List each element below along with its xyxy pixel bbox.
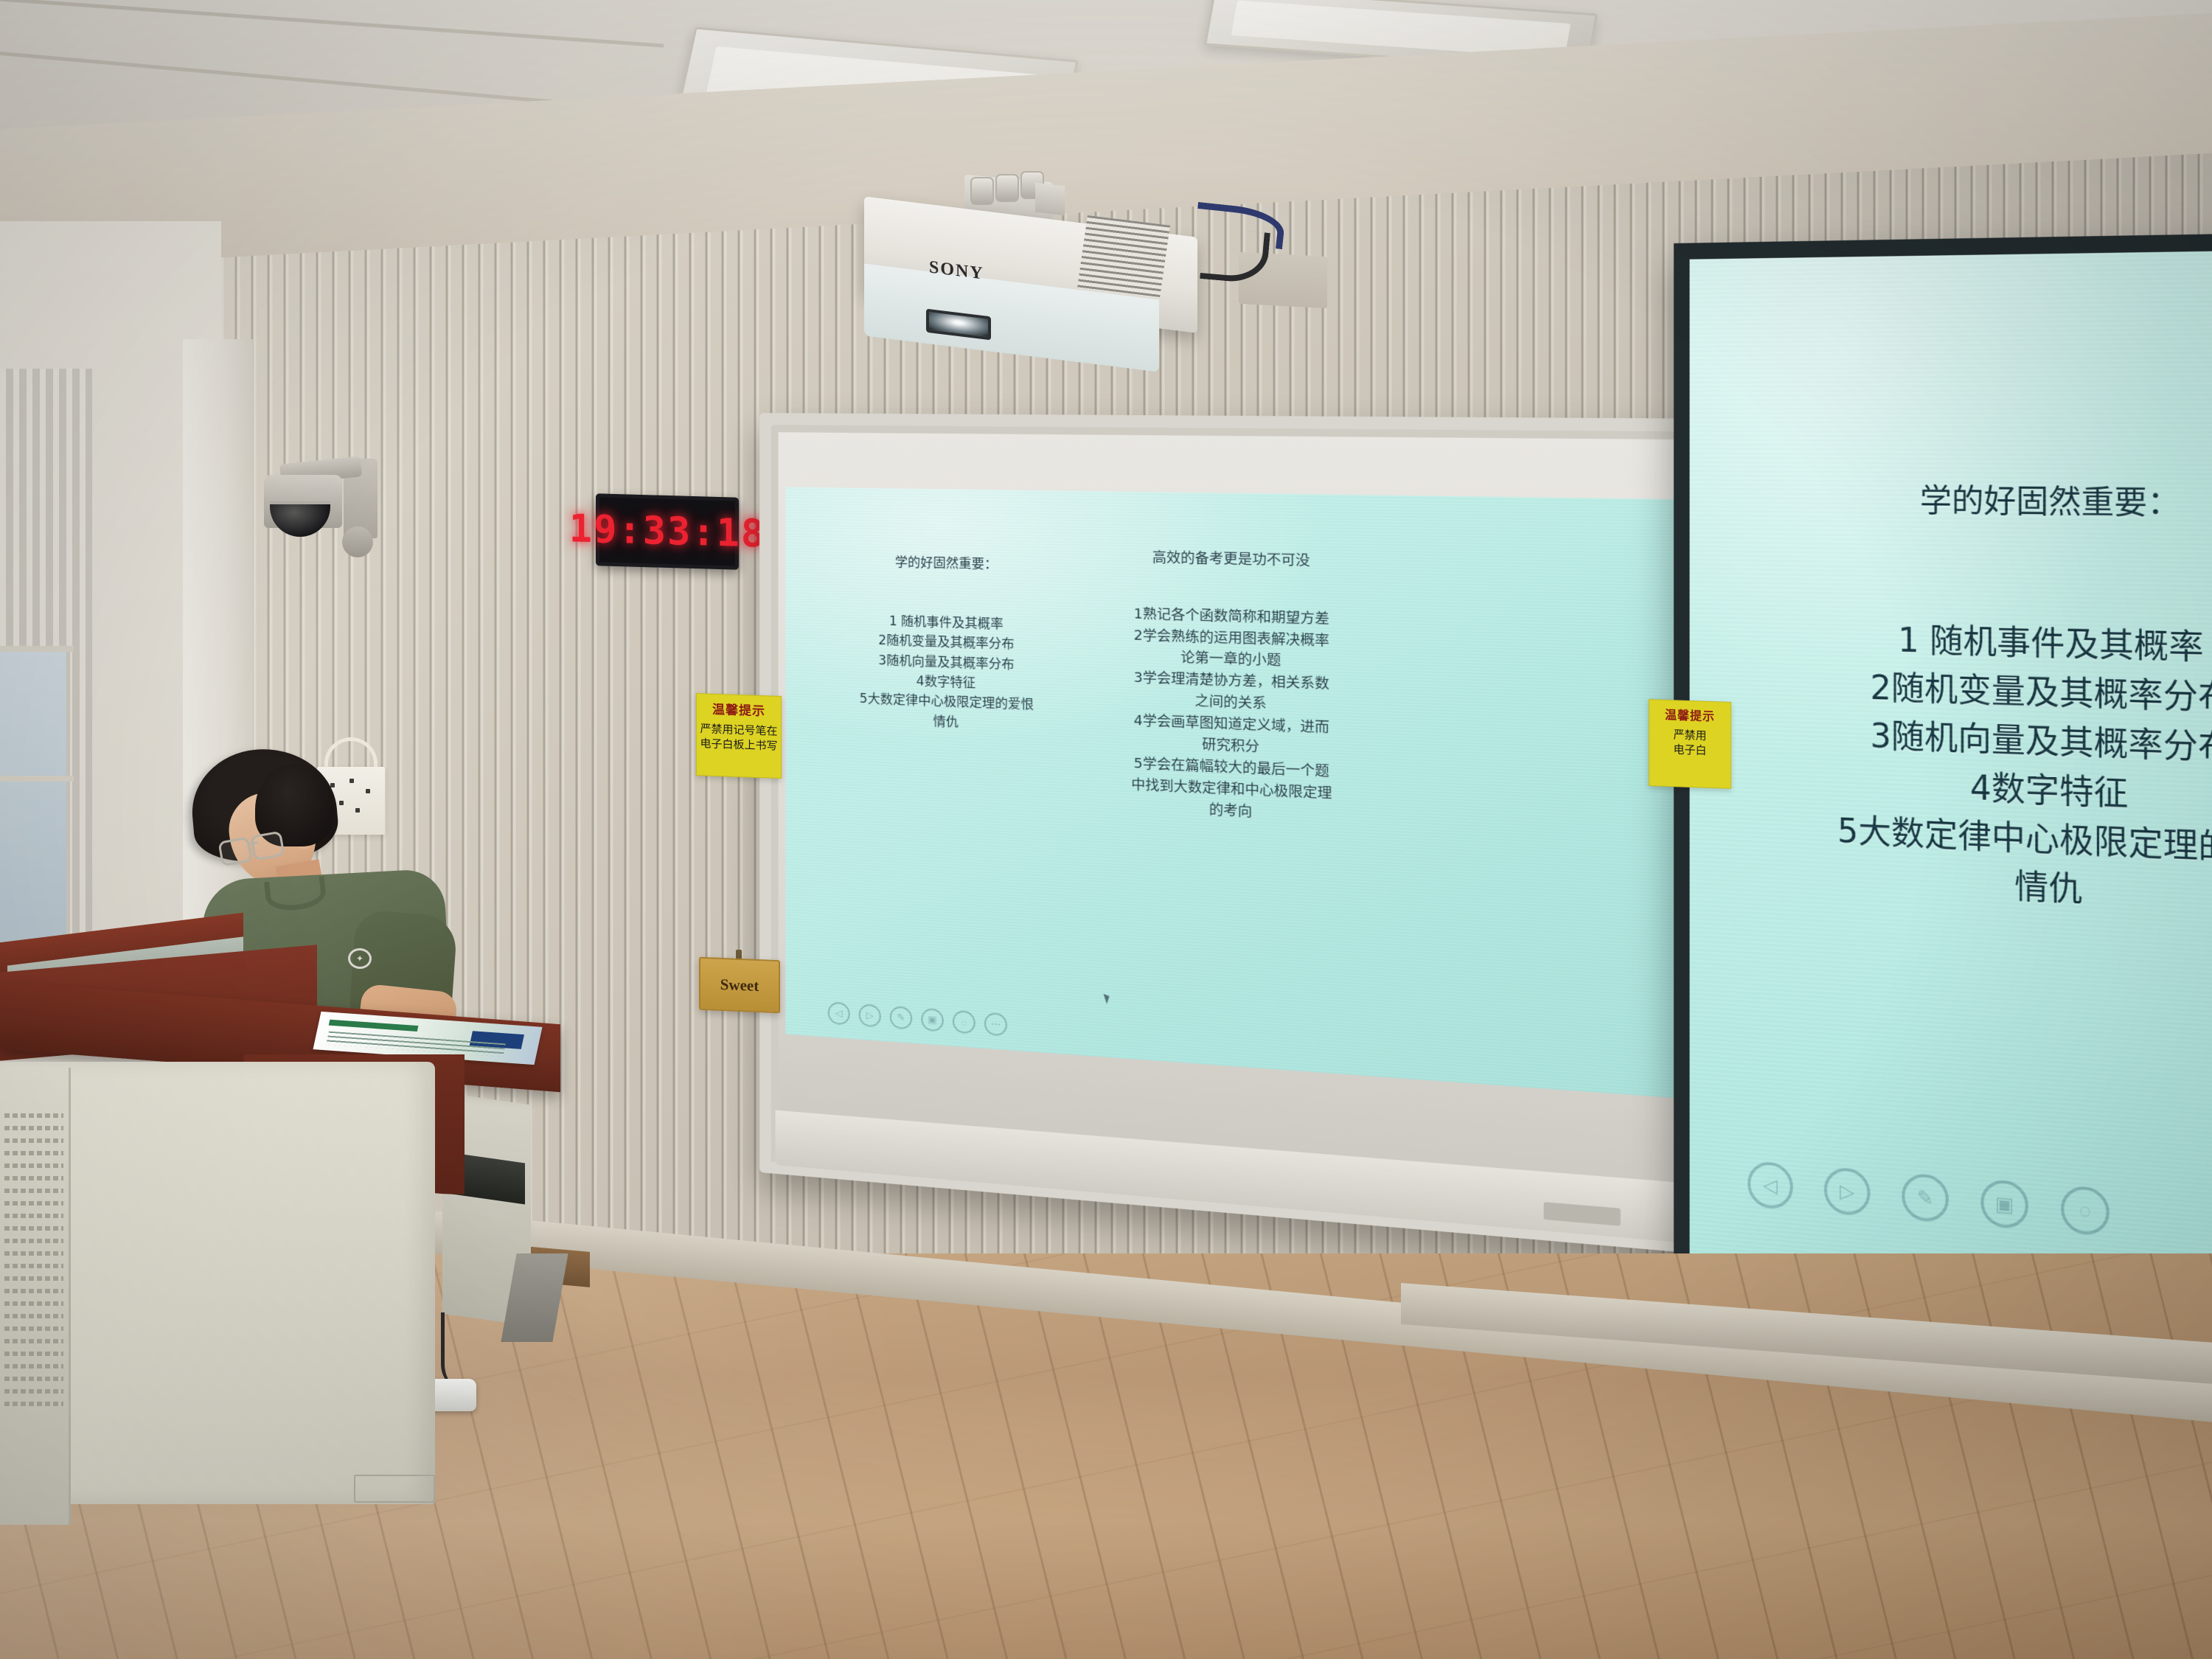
camera-mount-base [342,526,373,557]
window-frame [0,646,74,652]
projection-slide-text: 学的好固然重要： 1 随机事件及其概率 2随机变量及其概率分布 3随机向量及其概… [1719,429,2212,931]
podium-nameplate [354,1475,435,1503]
projection-slide-title: 学的好固然重要： [1719,476,2212,529]
play-icon[interactable]: ▷ [1824,1166,1871,1217]
projection-toolbar[interactable]: ◁ ▷ ✎ ▣ ◌ [1747,1161,2110,1237]
warning-sign-title: 温馨提示 [712,699,765,720]
shapes-icon[interactable]: ▣ [1980,1178,2028,1229]
play-icon[interactable]: ▷ [859,1004,881,1027]
search-icon[interactable]: ◌ [953,1010,975,1034]
whiteboard-toolbar[interactable]: ◁ ▷ ✎ ▣ ◌ ⋯ [828,1001,1007,1036]
slide-left-title: 学的好固然重要： [831,552,1064,577]
slide-right-body: 1熟记各个函数简称和期望方差 2学会熟练的运用图表解决概率 论第一章的小题 3学… [1131,606,1332,820]
classroom-scene: 19:33:18 SONY 学的好固然重要： 1 随机事件及其概率 2随机变量及… [0,0,2212,1659]
security-camera [260,456,378,559]
back-icon[interactable]: ◁ [828,1001,850,1025]
slide-left-column: 学的好固然重要： 1 随机事件及其概率 2随机变量及其概率分布 3随机向量及其概… [831,532,1064,737]
projection-screen[interactable]: 学的好固然重要： 1 随机事件及其概率 2随机变量及其概率分布 3随机向量及其概… [1674,231,2212,1399]
projector-vent-grille [1077,215,1170,298]
projection-slide-body: 1 随机事件及其概率 2随机变量及其概率分布 3随机向量及其概率分布 4数字特征… [1837,622,2212,910]
shapes-icon[interactable]: ▣ [921,1008,943,1032]
document-green-band [329,1020,419,1032]
mount-knob-icon [970,177,994,205]
warning-sign-right: 温馨提示 严禁用 电子白 [1649,699,1731,789]
wall-storage-box: Sweet [699,957,780,1014]
ceiling-projector: SONY [855,171,1283,363]
slide-right-title: 高效的备考更是功不可没 [1101,546,1364,574]
clock-time: 19:33:18 [569,507,765,556]
podium-vent-grille [4,1113,63,1414]
screen-glare [785,487,1344,773]
warning-sign-title: 温馨提示 [1665,705,1715,724]
search-icon[interactable]: ◌ [2061,1185,2110,1237]
pen-icon[interactable]: ✎ [890,1006,912,1030]
whiteboard-tray-tab [1544,1202,1621,1226]
pen-icon[interactable]: ✎ [1902,1172,1949,1223]
camera-dome-icon [270,501,330,537]
screen-glare [1689,248,2175,772]
projector-black-cable [1200,227,1270,285]
projection-screen-surface[interactable]: 学的好固然重要： 1 随机事件及其概率 2随机变量及其概率分布 3随机向量及其概… [1689,248,2212,1380]
wall-box-label: Sweet [720,975,759,995]
warning-sign-body: 严禁用记号笔在 电子白板上书写 [700,721,777,754]
more-icon[interactable]: ⋯ [984,1012,1007,1037]
electronic-whiteboard[interactable]: 学的好固然重要： 1 随机事件及其概率 2随机变量及其概率分布 3随机向量及其概… [759,413,1710,1255]
projector-rail [1035,183,1065,216]
warning-sign-body: 严禁用 电子白 [1673,727,1706,758]
mouse-cursor-icon [1101,994,1110,1004]
whiteboard-screen[interactable]: 学的好固然重要： 1 随机事件及其概率 2随机变量及其概率分布 3随机向量及其概… [785,487,1688,1099]
led-wall-clock: 19:33:18 [596,493,739,569]
window-frame [0,776,74,782]
window-pane [0,649,70,959]
mount-knob-icon [995,174,1019,202]
slide-left-body: 1 随机事件及其概率 2随机变量及其概率分布 3随机向量及其概率分布 4数字特征… [860,614,1034,730]
slide-right-column: 高效的备考更是功不可没 1熟记各个函数简称和期望方差 2学会熟练的运用图表解决概… [1101,525,1364,828]
back-icon[interactable]: ◁ [1747,1161,1793,1211]
warning-sign-left: 温馨提示 严禁用记号笔在 电子白板上书写 [696,693,782,779]
